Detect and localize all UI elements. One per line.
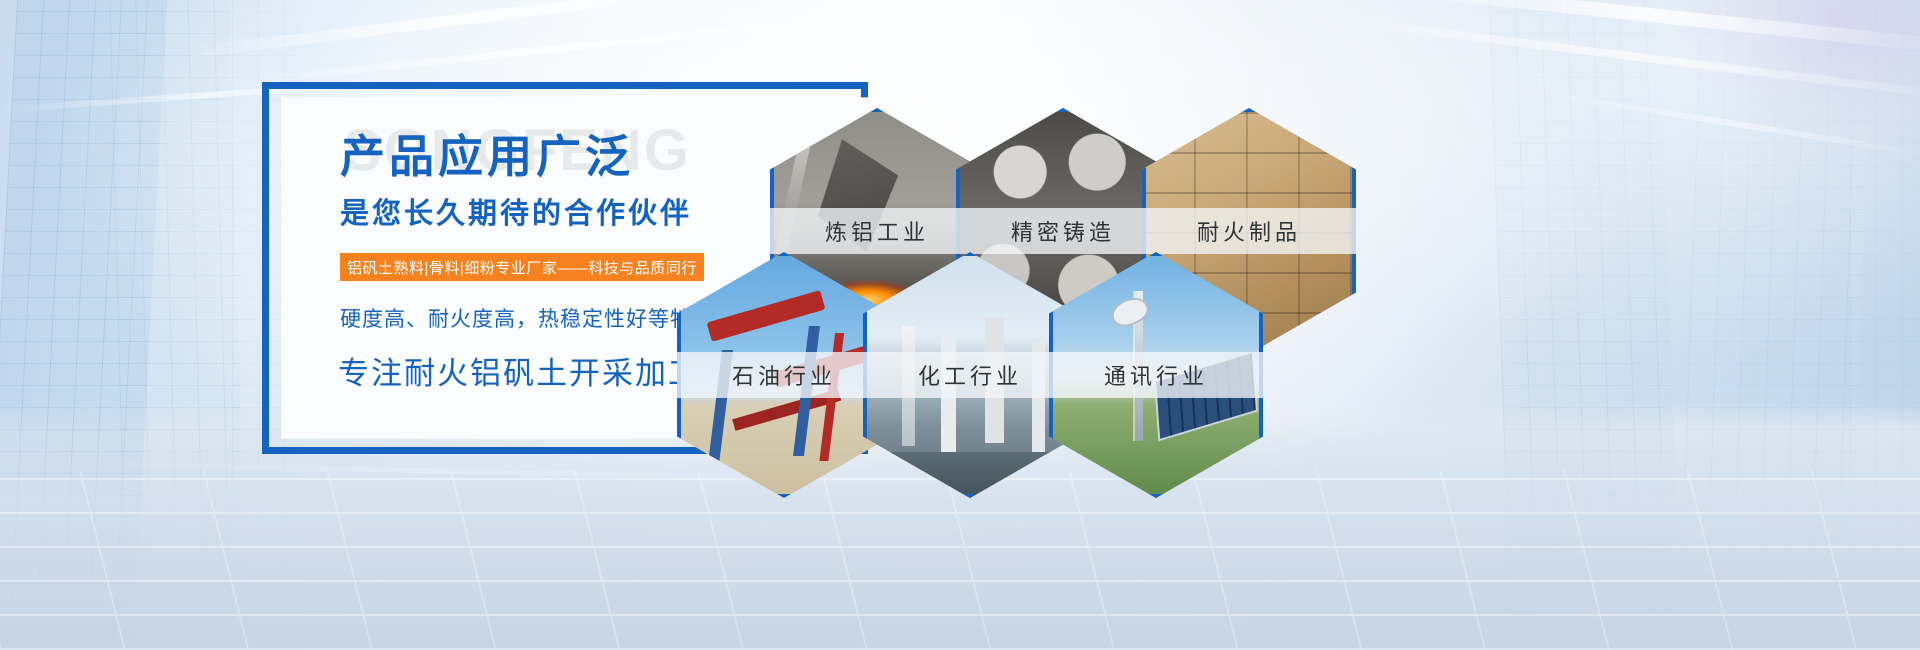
feature-text: 硬度高、耐火度高，热稳定性好等特性 bbox=[340, 303, 714, 333]
hex-label: 化工行业 bbox=[863, 352, 1077, 398]
hex-label: 精密铸造 bbox=[956, 208, 1170, 254]
page-subtitle: 是您长久期待的合作伙伴 bbox=[340, 190, 692, 232]
hero-banner: SONGFENG 产品应用广泛 是您长久期待的合作伙伴 铝矾土熟料|骨料|细粉专… bbox=[0, 0, 1920, 650]
hex-label: 耐火制品 bbox=[1142, 208, 1356, 254]
hex-label: 石油行业 bbox=[677, 352, 891, 398]
highlight-strip: 铝矾土熟料|骨料|细粉专业厂家——科技与品质同行 bbox=[340, 253, 704, 281]
page-title: 产品应用广泛 bbox=[340, 133, 634, 180]
tagline-text: 专注耐火铝矾土开采加工 bbox=[338, 348, 701, 393]
hex-label: 炼铝工业 bbox=[770, 208, 984, 254]
industry-hexagon-grid: 炼铝工业 精密铸造 耐火制品 石油行业 化工行业 通讯行业 bbox=[760, 78, 1320, 498]
hex-label: 通讯行业 bbox=[1049, 352, 1263, 398]
